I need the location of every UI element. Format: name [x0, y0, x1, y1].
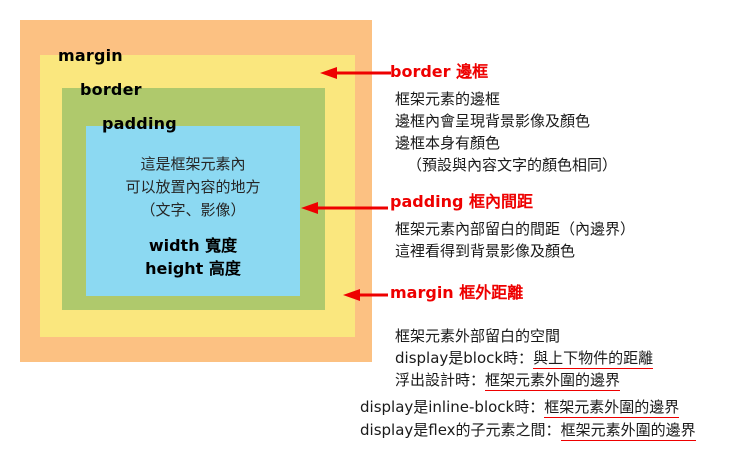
content-box-text: 這是框架元素內 可以放置內容的地方 （文字、影像） width 寬度 heigh… [86, 126, 300, 280]
annotation-margin-line-2-prefix: display是block時： [395, 349, 533, 367]
annotation-margin-extra-line-1-emphasis: 框架元素外圍的邊界 [544, 398, 679, 418]
annotation-column: border 邊框 框架元素的邊框 邊框內會呈現背景影像及顏色 邊框本身有顏色 … [390, 0, 750, 461]
content-line-1: 這是框架元素內 [86, 153, 300, 176]
content-line-2: 可以放置內容的地方 [86, 176, 300, 199]
annotation-border-heading: border 邊框 [390, 62, 750, 82]
annotation-padding: padding 框內間距 框架元素內部留白的間距（內邊界） 這裡看得到背景影像及… [390, 192, 750, 262]
annotation-margin-extra-line-1: display是inline-block時：框架元素外圍的邊界 [360, 396, 750, 419]
annotation-padding-line-1: 框架元素內部留白的間距（內邊界） [395, 218, 750, 240]
border-box-label: border [80, 80, 142, 99]
box-model-diagram: margin border padding 這是框架元素內 可以放置內容的地方 … [20, 20, 372, 362]
annotation-margin-extra-line-1-prefix: display是inline-block時： [360, 398, 544, 416]
annotation-padding-body: 框架元素內部留白的間距（內邊界） 這裡看得到背景影像及顏色 [390, 218, 750, 262]
annotation-margin-heading: margin 框外距離 [390, 283, 750, 303]
annotation-margin: margin 框外距離 框架元素外部留白的空間 display是block時：與… [390, 283, 750, 391]
annotation-margin-extra-line-2-prefix: display是flex的子元素之間： [360, 421, 561, 439]
annotation-margin-line-3-emphasis: 框架元素外圍的邊界 [485, 371, 620, 391]
annotation-margin-extra-line-2-emphasis: 框架元素外圍的邊界 [561, 421, 696, 441]
annotation-margin-line-2: display是block時：與上下物件的距離 [395, 347, 750, 369]
content-height-label: height 高度 [86, 257, 300, 280]
content-line-3: （文字、影像） [86, 199, 300, 222]
annotation-border: border 邊框 框架元素的邊框 邊框內會呈現背景影像及顏色 邊框本身有顏色 … [390, 62, 750, 176]
annotation-border-line-1: 框架元素的邊框 [395, 88, 750, 110]
content-width-label: width 寬度 [86, 234, 300, 257]
margin-box-label: margin [58, 46, 123, 65]
annotation-margin-line-3: 浮出設計時：框架元素外圍的邊界 [395, 369, 750, 391]
annotation-margin-line-3-prefix: 浮出設計時： [395, 371, 485, 389]
annotation-padding-line-2: 這裡看得到背景影像及顏色 [395, 240, 750, 262]
annotation-border-body: 框架元素的邊框 邊框內會呈現背景影像及顏色 邊框本身有顏色 （預設與內容文字的顏… [390, 88, 750, 176]
annotation-margin-line-1: 框架元素外部留白的空間 [395, 325, 750, 347]
annotation-padding-heading: padding 框內間距 [390, 192, 750, 212]
annotation-border-line-3: 邊框本身有顏色 [395, 132, 750, 154]
annotation-margin-extra-line-2: display是flex的子元素之間：框架元素外圍的邊界 [360, 419, 750, 442]
annotation-border-line-2: 邊框內會呈現背景影像及顏色 [395, 110, 750, 132]
annotation-border-line-4: （預設與內容文字的顏色相同） [395, 154, 750, 176]
annotation-margin-extra: display是inline-block時：框架元素外圍的邊界 display是… [360, 396, 750, 442]
annotation-margin-line-2-emphasis: 與上下物件的距離 [533, 349, 653, 369]
annotation-margin-body: 框架元素外部留白的空間 display是block時：與上下物件的距離 浮出設計… [390, 325, 750, 391]
